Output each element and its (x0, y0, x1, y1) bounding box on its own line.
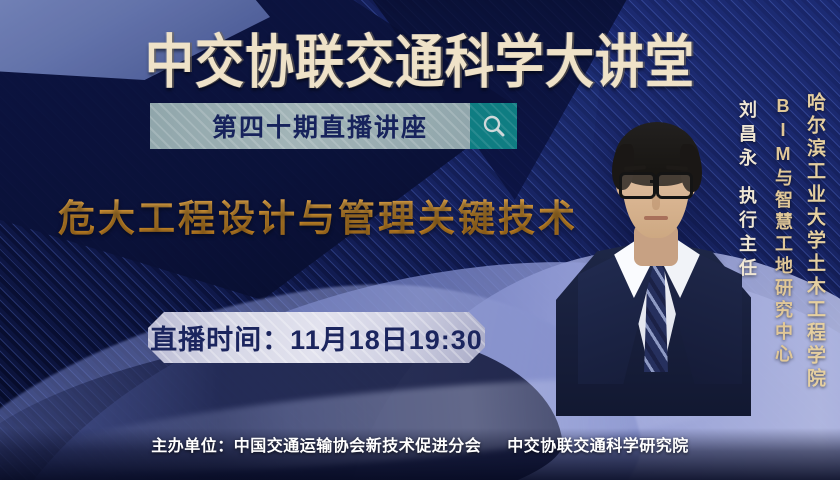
search-button[interactable] (470, 103, 517, 149)
portrait-lens-left (619, 172, 656, 199)
speaker-center: BIM与智慧工地研究中心 (770, 96, 796, 366)
footer-organizer-1: 中国交通运输协会新技术促进分会 (234, 438, 482, 455)
portrait-nose (652, 196, 660, 210)
portrait-mouth (644, 216, 668, 220)
speaker-role: 执行主任 (734, 186, 760, 282)
footer-prefix: 主办单位： (151, 438, 234, 455)
glasses-icon (619, 172, 693, 193)
lecture-topic: 危大工程设计与管理关键技术 (58, 188, 578, 242)
footer-organizer-2: 中交协联交通科学研究院 (507, 438, 689, 455)
search-icon (481, 113, 507, 139)
speaker-name: 刘昌永 (734, 100, 760, 172)
episode-bar: 第四十期直播讲座 (150, 103, 490, 149)
broadcast-time-label: 直播时间：11月18日19:30 (150, 318, 483, 357)
footer-organizers: 主办单位：中国交通运输协会新技术促进分会中交协联交通科学研究院 (0, 432, 840, 456)
page-title: 中交协联交通科学大讲堂 (0, 16, 840, 100)
portrait-lens-right (656, 172, 693, 199)
episode-label: 第四十期直播讲座 (212, 108, 428, 144)
speaker-portrait (556, 86, 751, 416)
speaker-organization: 哈尔滨工业大学土木工程学院 (801, 92, 828, 391)
broadcast-time-badge: 直播时间：11月18日19:30 (148, 312, 485, 363)
webinar-poster: 中交协联交通科学大讲堂 第四十期直播讲座 危大工程设计与管理关键技术 直播时间：… (0, 0, 840, 480)
